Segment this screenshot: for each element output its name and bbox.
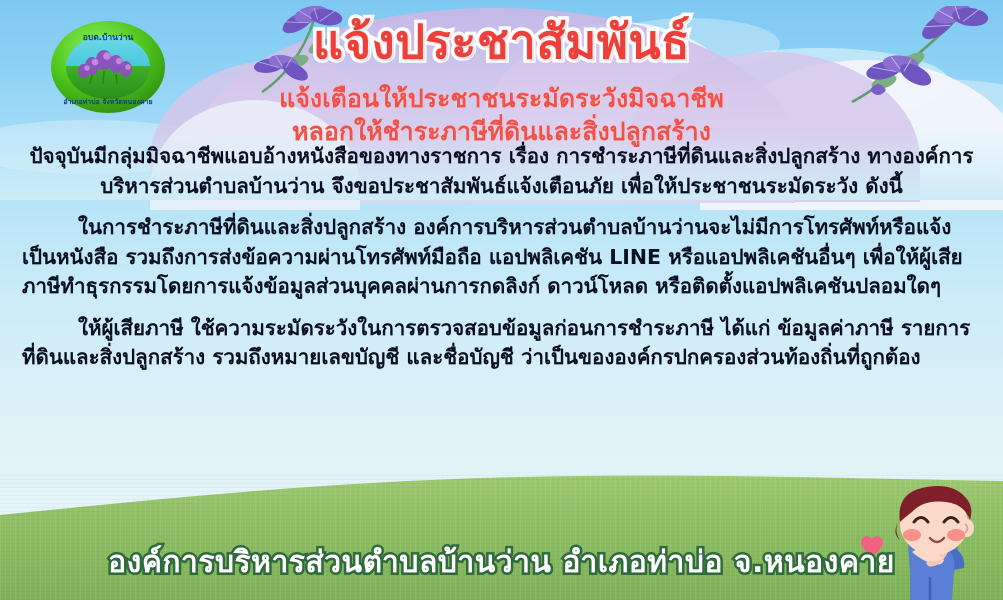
mascot-boy-wai-icon (852, 482, 997, 600)
organization-logo: อบต.บ้านว่าน อำเภอท่าบ่อ จังหวัดหนองคาย (48, 18, 168, 116)
cloud-shape (600, 18, 780, 70)
paragraph-warning: ในการชำระภาษีที่ดินและสิ่งปลูกสร้าง องค์… (22, 213, 981, 302)
body-copy: ปัจจุบันมีกลุ่มมิจฉาชีพแอบอ้างหนังสือของ… (22, 142, 981, 385)
flower-head (914, 6, 994, 46)
announcement-poster: อบต.บ้านว่าน อำเภอท่าบ่อ จังหวัดหนองคาย (0, 0, 1003, 600)
flower-head (277, 6, 346, 39)
logo-ring-text-bottom: อำเภอท่าบ่อ จังหวัดหนองคาย (63, 98, 152, 106)
flower-sprig-right-icon (848, 6, 998, 116)
flower-sprig-left-icon (252, 6, 372, 98)
paragraph-advice: ให้ผู้เสียภาษี ใช้ความระมัดระวังในการตรว… (22, 314, 981, 373)
logo-ring-text-top: อบต.บ้านว่าน (83, 32, 134, 43)
footer-organization-name: องค์การบริหารส่วนตำบลบ้านว่าน อำเภอท่าบ่… (108, 539, 895, 586)
paragraph-intro: ปัจจุบันมีกลุ่มมิจฉาชีพแอบอ้างหนังสือของ… (22, 142, 981, 201)
